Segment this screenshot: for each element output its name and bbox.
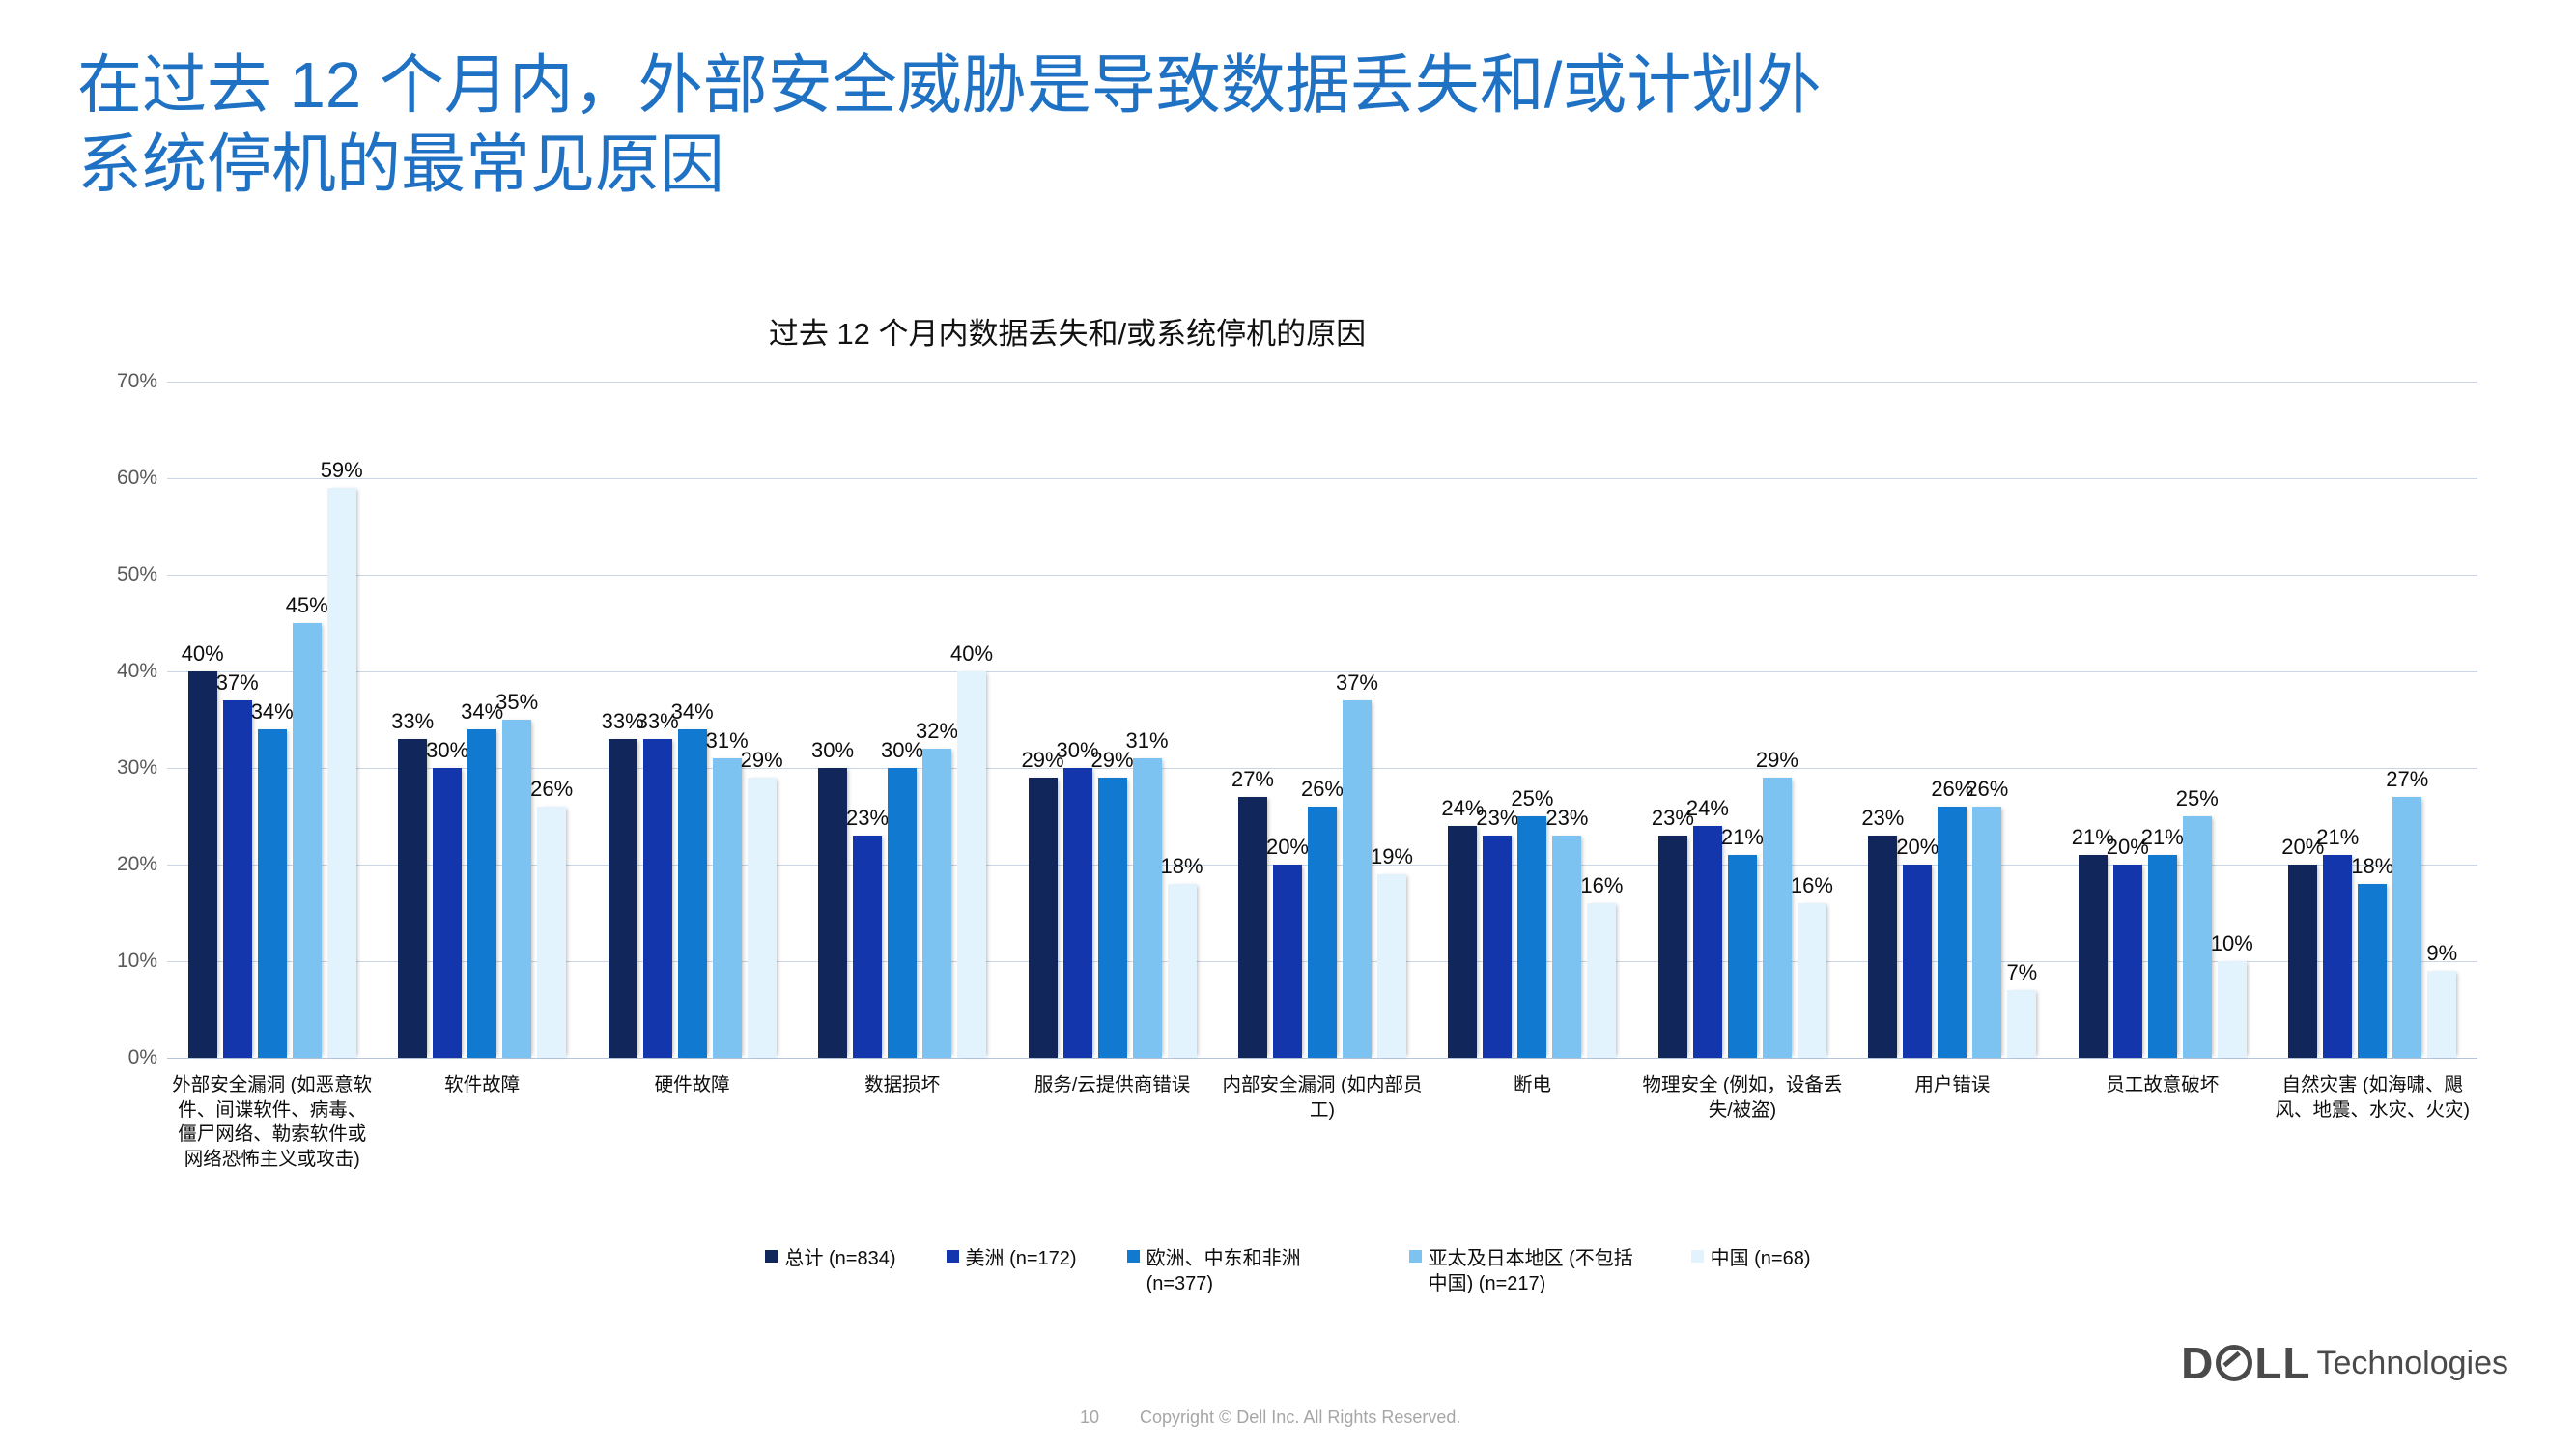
x-axis-category-label: 数据损坏: [797, 1064, 1006, 1173]
bar-slot: 34%: [678, 382, 707, 1058]
bar-group: 27%20%26%37%19%: [1217, 382, 1427, 1058]
bar-value-label: 32%: [916, 719, 958, 744]
plot-grid: 40%37%34%45%59%33%30%34%35%26%33%33%34%3…: [167, 382, 2477, 1058]
legend-item[interactable]: 亚太及日本地区 (不包括中国) (n=217): [1409, 1246, 1641, 1296]
bar-value-label: 45%: [286, 593, 328, 618]
x-axis-category-labels: 外部安全漏洞 (如恶意软件、间谍软件、病毒、僵尸网络、勒索软件或网络恐怖主义或攻…: [167, 1064, 2477, 1173]
bar-slot: 16%: [1798, 382, 1826, 1058]
bar[interactable]: [1273, 865, 1302, 1058]
bar[interactable]: [1552, 836, 1581, 1058]
bar-slot: 29%: [1029, 382, 1058, 1058]
y-axis-tick-label: 10%: [117, 950, 157, 973]
bar-slot: 27%: [2392, 382, 2421, 1058]
bar[interactable]: [713, 758, 742, 1058]
bar[interactable]: [853, 836, 882, 1058]
bar[interactable]: [327, 488, 356, 1058]
bar-value-label: 25%: [2176, 786, 2219, 811]
bar-value-label: 24%: [1686, 796, 1729, 821]
bar-value-label: 40%: [182, 641, 224, 667]
bar[interactable]: [1972, 807, 2001, 1058]
bar-slot: 21%: [2323, 382, 2352, 1058]
bar[interactable]: [678, 729, 707, 1058]
page-title: 在过去 12 个月内，外部安全威胁是导致数据丢失和/或计划外 系统停机的最常见原…: [77, 46, 2463, 204]
bar-series-container: 40%37%34%45%59%33%30%34%35%26%33%33%34%3…: [167, 382, 2477, 1058]
bar[interactable]: [1798, 903, 1826, 1058]
dell-technologies-word: Technologies: [2317, 1345, 2508, 1382]
bar-value-label: 20%: [1896, 835, 1939, 860]
bar[interactable]: [1029, 778, 1058, 1058]
bar-group: 30%23%30%32%40%: [797, 382, 1006, 1058]
bar-value-label: 40%: [950, 641, 993, 667]
bar-value-label: 31%: [1126, 728, 1169, 753]
bar-slot: 20%: [2288, 382, 2317, 1058]
x-axis-category-label: 员工故意破坏: [2057, 1064, 2267, 1173]
bar-group: 33%30%34%35%26%: [377, 382, 586, 1058]
bar[interactable]: [1377, 874, 1406, 1058]
bar-slot: 40%: [188, 382, 217, 1058]
bar-slot: 20%: [1273, 382, 1302, 1058]
bar-value-label: 20%: [1266, 835, 1309, 860]
x-axis-category-label: 自然灾害 (如海啸、飓风、地震、水灾、火灾): [2268, 1064, 2477, 1173]
y-axis-tick-label: 40%: [117, 660, 157, 683]
bar-value-label: 18%: [1161, 854, 1203, 879]
plot-area: 0%10%20%30%40%50%60%70% 40%37%34%45%59%3…: [92, 382, 2477, 1164]
legend-color-swatch: [947, 1250, 959, 1263]
bar[interactable]: [643, 739, 672, 1058]
bar[interactable]: [188, 671, 217, 1058]
bar-value-label: 29%: [741, 748, 783, 773]
bar-slot: 23%: [1868, 382, 1897, 1058]
bar-value-label: 26%: [1966, 777, 2008, 802]
x-axis-category-label: 内部安全漏洞 (如内部员工): [1217, 1064, 1427, 1173]
bar-slot: 29%: [1098, 382, 1127, 1058]
bar-slot: 33%: [398, 382, 427, 1058]
page-number: 10: [1080, 1407, 1099, 1428]
bar[interactable]: [433, 768, 462, 1058]
bar[interactable]: [2288, 865, 2317, 1058]
bar-group: 21%20%21%25%10%: [2057, 382, 2267, 1058]
bar-slot: 27%: [1238, 382, 1267, 1058]
bar-slot: 18%: [2358, 382, 2387, 1058]
bar-slot: 25%: [2183, 382, 2212, 1058]
y-axis: 0%10%20%30%40%50%60%70%: [92, 382, 167, 1058]
bar-slot: 24%: [1693, 382, 1722, 1058]
bar[interactable]: [2183, 816, 2212, 1058]
bar-slot: 40%: [957, 382, 986, 1058]
bar-slot: 20%: [1903, 382, 1932, 1058]
bar-value-label: 37%: [216, 670, 259, 696]
legend-label: 美洲 (n=172): [966, 1246, 1077, 1271]
bar[interactable]: [258, 729, 287, 1058]
bar-group: 33%33%34%31%29%: [587, 382, 797, 1058]
copyright-text: Copyright © Dell Inc. All Rights Reserve…: [1140, 1407, 1460, 1428]
bar-value-label: 23%: [1861, 806, 1904, 831]
bar-value-label: 10%: [2211, 931, 2253, 956]
bar-value-label: 19%: [1371, 844, 1413, 869]
bar-slot: 19%: [1377, 382, 1406, 1058]
bar-value-label: 59%: [321, 458, 363, 483]
bar-slot: 9%: [2427, 382, 2456, 1058]
bar-slot: 7%: [2007, 382, 2036, 1058]
dell-letter-d: D: [2181, 1337, 2214, 1389]
bar[interactable]: [1168, 884, 1197, 1058]
bar[interactable]: [1133, 758, 1162, 1058]
bar[interactable]: [2113, 865, 2142, 1058]
bar[interactable]: [1728, 855, 1757, 1058]
legend-item[interactable]: 总计 (n=834): [765, 1246, 895, 1271]
chart-container: 过去 12 个月内数据丢失和/或系统停机的原因 0%10%20%30%40%50…: [0, 309, 2576, 1323]
bar[interactable]: [922, 749, 951, 1058]
bar[interactable]: [1343, 700, 1372, 1058]
x-axis-category-label: 物理安全 (例如，设备丢失/被盗): [1637, 1064, 1847, 1173]
chart-title: 过去 12 个月内数据丢失和/或系统停机的原因: [68, 309, 2067, 353]
bar[interactable]: [1868, 836, 1897, 1058]
legend-color-swatch: [1409, 1250, 1422, 1263]
bar-group: 23%20%26%26%7%: [1848, 382, 2057, 1058]
bar[interactable]: [1238, 797, 1267, 1058]
dell-slashed-o-icon: [2216, 1345, 2252, 1381]
bar[interactable]: [398, 739, 427, 1058]
bar-slot: 26%: [537, 382, 566, 1058]
bar[interactable]: [957, 671, 986, 1058]
bar-value-label: 16%: [1580, 873, 1623, 898]
bar-slot: 25%: [1517, 382, 1546, 1058]
bar[interactable]: [2218, 961, 2247, 1058]
bar-value-label: 16%: [1791, 873, 1833, 898]
bar-value-label: 26%: [530, 777, 573, 802]
y-axis-tick-label: 70%: [117, 370, 157, 393]
bar-slot: 31%: [1133, 382, 1162, 1058]
bar-value-label: 30%: [426, 738, 468, 763]
y-axis-tick-label: 50%: [117, 563, 157, 586]
y-axis-tick-label: 30%: [117, 756, 157, 780]
legend-color-swatch: [1691, 1250, 1704, 1263]
bar-slot: 30%: [433, 382, 462, 1058]
bar-slot: 37%: [1343, 382, 1372, 1058]
bar-group: 40%37%34%45%59%: [167, 382, 377, 1058]
bar-value-label: 18%: [2351, 854, 2393, 879]
bar-value-label: 23%: [1545, 806, 1588, 831]
x-axis-category-label: 外部安全漏洞 (如恶意软件、间谍软件、病毒、僵尸网络、勒索软件或网络恐怖主义或攻…: [167, 1064, 377, 1173]
legend-label: 欧洲、中东和非洲 (n=377): [1146, 1246, 1359, 1296]
bar-slot: 16%: [1587, 382, 1616, 1058]
bar-group: 23%24%21%29%16%: [1637, 382, 1847, 1058]
bar-value-label: 27%: [1231, 767, 1274, 792]
bar-value-label: 27%: [2386, 767, 2428, 792]
bar[interactable]: [2079, 855, 2108, 1058]
bar[interactable]: [2392, 797, 2421, 1058]
bar[interactable]: [293, 623, 322, 1058]
bar[interactable]: [467, 729, 496, 1058]
bar-slot: 34%: [258, 382, 287, 1058]
bar[interactable]: [2358, 884, 2387, 1058]
bar-slot: 45%: [293, 382, 322, 1058]
bar-slot: 21%: [1728, 382, 1757, 1058]
bar[interactable]: [2007, 990, 2036, 1058]
bar[interactable]: [2427, 971, 2456, 1058]
bar-slot: 30%: [1063, 382, 1092, 1058]
bar-value-label: 29%: [1756, 748, 1798, 773]
slide-footer: 10 Copyright © Dell Inc. All Rights Rese…: [0, 1333, 2576, 1449]
bar[interactable]: [502, 720, 531, 1058]
x-axis-category-label: 硬件故障: [587, 1064, 797, 1173]
x-axis-category-label: 软件故障: [377, 1064, 586, 1173]
bar[interactable]: [1098, 778, 1127, 1058]
bar-group: 24%23%25%23%16%: [1428, 382, 1637, 1058]
bar-value-label: 21%: [1721, 825, 1764, 850]
x-axis-category-label: 断电: [1428, 1064, 1637, 1173]
x-axis-line: [167, 1058, 2477, 1059]
bar-slot: 18%: [1168, 382, 1197, 1058]
bar[interactable]: [1063, 768, 1092, 1058]
bar[interactable]: [2148, 855, 2177, 1058]
bar[interactable]: [748, 778, 777, 1058]
bar-value-label: 34%: [671, 699, 714, 724]
bar[interactable]: [2323, 855, 2352, 1058]
bar[interactable]: [1308, 807, 1337, 1058]
bar[interactable]: [818, 768, 847, 1058]
bar-slot: 23%: [1552, 382, 1581, 1058]
bar-slot: 26%: [1972, 382, 2001, 1058]
bar-value-label: 21%: [2316, 825, 2359, 850]
bar-value-label: 9%: [2426, 941, 2457, 966]
bar-slot: 33%: [609, 382, 637, 1058]
bar-slot: 20%: [2113, 382, 2142, 1058]
legend-label: 亚太及日本地区 (不包括中国) (n=217): [1429, 1246, 1641, 1296]
bar-value-label: 23%: [846, 806, 889, 831]
bar[interactable]: [1658, 836, 1687, 1058]
bar-value-label: 34%: [251, 699, 294, 724]
bar[interactable]: [1448, 826, 1477, 1058]
legend-item[interactable]: 欧洲、中东和非洲 (n=377): [1127, 1246, 1359, 1296]
y-axis-tick-label: 0%: [128, 1046, 157, 1069]
bar[interactable]: [1517, 816, 1546, 1058]
bar[interactable]: [1903, 865, 1932, 1058]
bar[interactable]: [1763, 778, 1792, 1058]
x-axis-category-label: 用户错误: [1848, 1064, 2057, 1173]
bar-slot: 32%: [922, 382, 951, 1058]
bar-slot: 26%: [1938, 382, 1967, 1058]
bar-slot: 30%: [888, 382, 917, 1058]
bar-slot: 26%: [1308, 382, 1337, 1058]
dell-letters-ll: LL: [2254, 1337, 2310, 1389]
legend-label: 中国 (n=68): [1711, 1246, 1811, 1271]
bar-value-label: 37%: [1336, 670, 1378, 696]
bar[interactable]: [888, 768, 917, 1058]
bar-value-label: 35%: [495, 690, 538, 715]
bar-slot: 23%: [853, 382, 882, 1058]
bar-slot: 35%: [502, 382, 531, 1058]
bar-slot: 23%: [1658, 382, 1687, 1058]
legend-color-swatch: [765, 1250, 778, 1263]
bar-slot: 33%: [643, 382, 672, 1058]
legend-label: 总计 (n=834): [784, 1246, 895, 1271]
y-axis-tick-label: 20%: [117, 853, 157, 876]
bar-slot: 10%: [2218, 382, 2247, 1058]
dell-wordmark: DLL: [2181, 1337, 2310, 1389]
bar-value-label: 33%: [391, 709, 434, 734]
bar[interactable]: [537, 807, 566, 1058]
legend-color-swatch: [1127, 1250, 1140, 1263]
bar[interactable]: [1693, 826, 1722, 1058]
bar-slot: 23%: [1483, 382, 1512, 1058]
bar[interactable]: [609, 739, 637, 1058]
bar-slot: 30%: [818, 382, 847, 1058]
bar[interactable]: [1483, 836, 1512, 1058]
chart-legend: 总计 (n=834)美洲 (n=172)欧洲、中东和非洲 (n=377)亚太及日…: [0, 1246, 2576, 1296]
bar[interactable]: [1587, 903, 1616, 1058]
y-axis-tick-label: 60%: [117, 467, 157, 490]
bar-slot: 37%: [223, 382, 252, 1058]
legend-item[interactable]: 中国 (n=68): [1691, 1246, 1811, 1271]
bar-slot: 24%: [1448, 382, 1477, 1058]
bar-slot: 29%: [748, 382, 777, 1058]
bar[interactable]: [1938, 807, 1967, 1058]
bar-value-label: 26%: [1301, 777, 1344, 802]
legend-item[interactable]: 美洲 (n=172): [947, 1246, 1077, 1271]
bar-value-label: 30%: [811, 738, 854, 763]
bar-slot: 21%: [2079, 382, 2108, 1058]
bar-slot: 59%: [327, 382, 356, 1058]
bar-slot: 31%: [713, 382, 742, 1058]
bar[interactable]: [223, 700, 252, 1058]
x-axis-category-label: 服务/云提供商错误: [1007, 1064, 1217, 1173]
bar-slot: 21%: [2148, 382, 2177, 1058]
bar-value-label: 21%: [2141, 825, 2184, 850]
dell-technologies-logo: DLL Technologies: [2181, 1337, 2508, 1389]
bar-value-label: 7%: [2006, 960, 2037, 985]
bar-slot: 29%: [1763, 382, 1792, 1058]
bar-slot: 34%: [467, 382, 496, 1058]
bar-group: 20%21%18%27%9%: [2268, 382, 2477, 1058]
bar-group: 29%30%29%31%18%: [1007, 382, 1217, 1058]
